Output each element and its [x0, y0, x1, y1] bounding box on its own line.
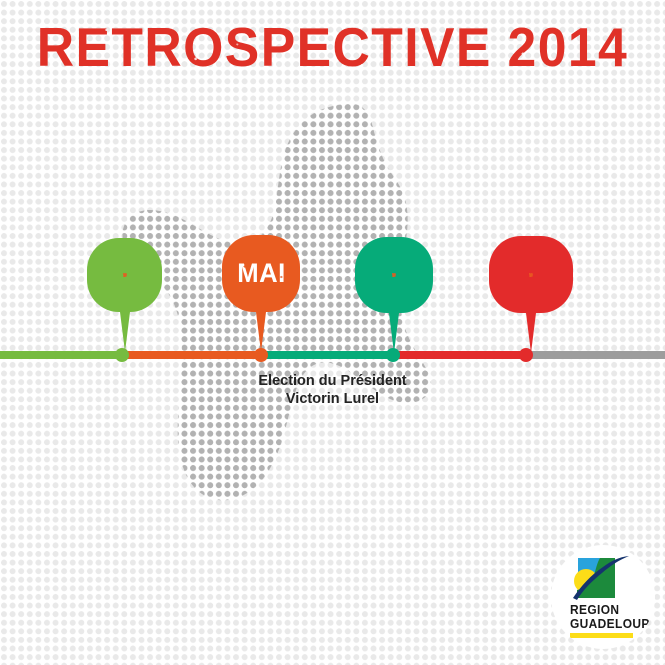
timeline-segment-teal — [261, 351, 393, 359]
timeline-bubble-teal[interactable] — [355, 237, 433, 313]
timeline-segment-gray — [526, 351, 665, 359]
timeline-bubble-green[interactable] — [87, 238, 162, 312]
page-title-text: RETROSPECTIVE 2014 — [37, 20, 628, 75]
page-title: RETROSPECTIVE 2014 — [20, 20, 645, 75]
logo-line-region: REGION — [570, 603, 633, 617]
logo-wordmark: REGION GUADELOUPE — [570, 603, 633, 631]
bubble-tail — [389, 313, 399, 353]
timeline-bubble-orange[interactable]: MAI — [222, 235, 300, 312]
timeline-bubble-red[interactable] — [489, 236, 573, 313]
logo-yellow-bar — [570, 633, 633, 638]
timeline — [0, 351, 665, 359]
timeline-segment-green — [0, 351, 122, 359]
logo-emblem-icon — [571, 556, 631, 602]
poster-root: RETROSPECTIVE 2014 MAI Election du Prési… — [0, 0, 665, 665]
timeline-bubble-label: MAI — [237, 258, 285, 289]
bubble-tail — [526, 313, 536, 353]
logo-line-guadeloupe: GUADELOUPE — [570, 617, 633, 631]
timeline-segment-orange — [122, 351, 261, 359]
bubble-tail — [256, 312, 266, 352]
event-caption-line2: Victorin Lurel — [0, 391, 665, 409]
event-caption: Election du Président Victorin Lurel — [0, 373, 665, 408]
bubble-tail — [120, 312, 130, 352]
region-guadeloupe-logo[interactable]: REGION GUADELOUPE — [551, 545, 655, 649]
event-caption-line1: Election du Président — [0, 373, 665, 391]
timeline-segment-red — [393, 351, 526, 359]
